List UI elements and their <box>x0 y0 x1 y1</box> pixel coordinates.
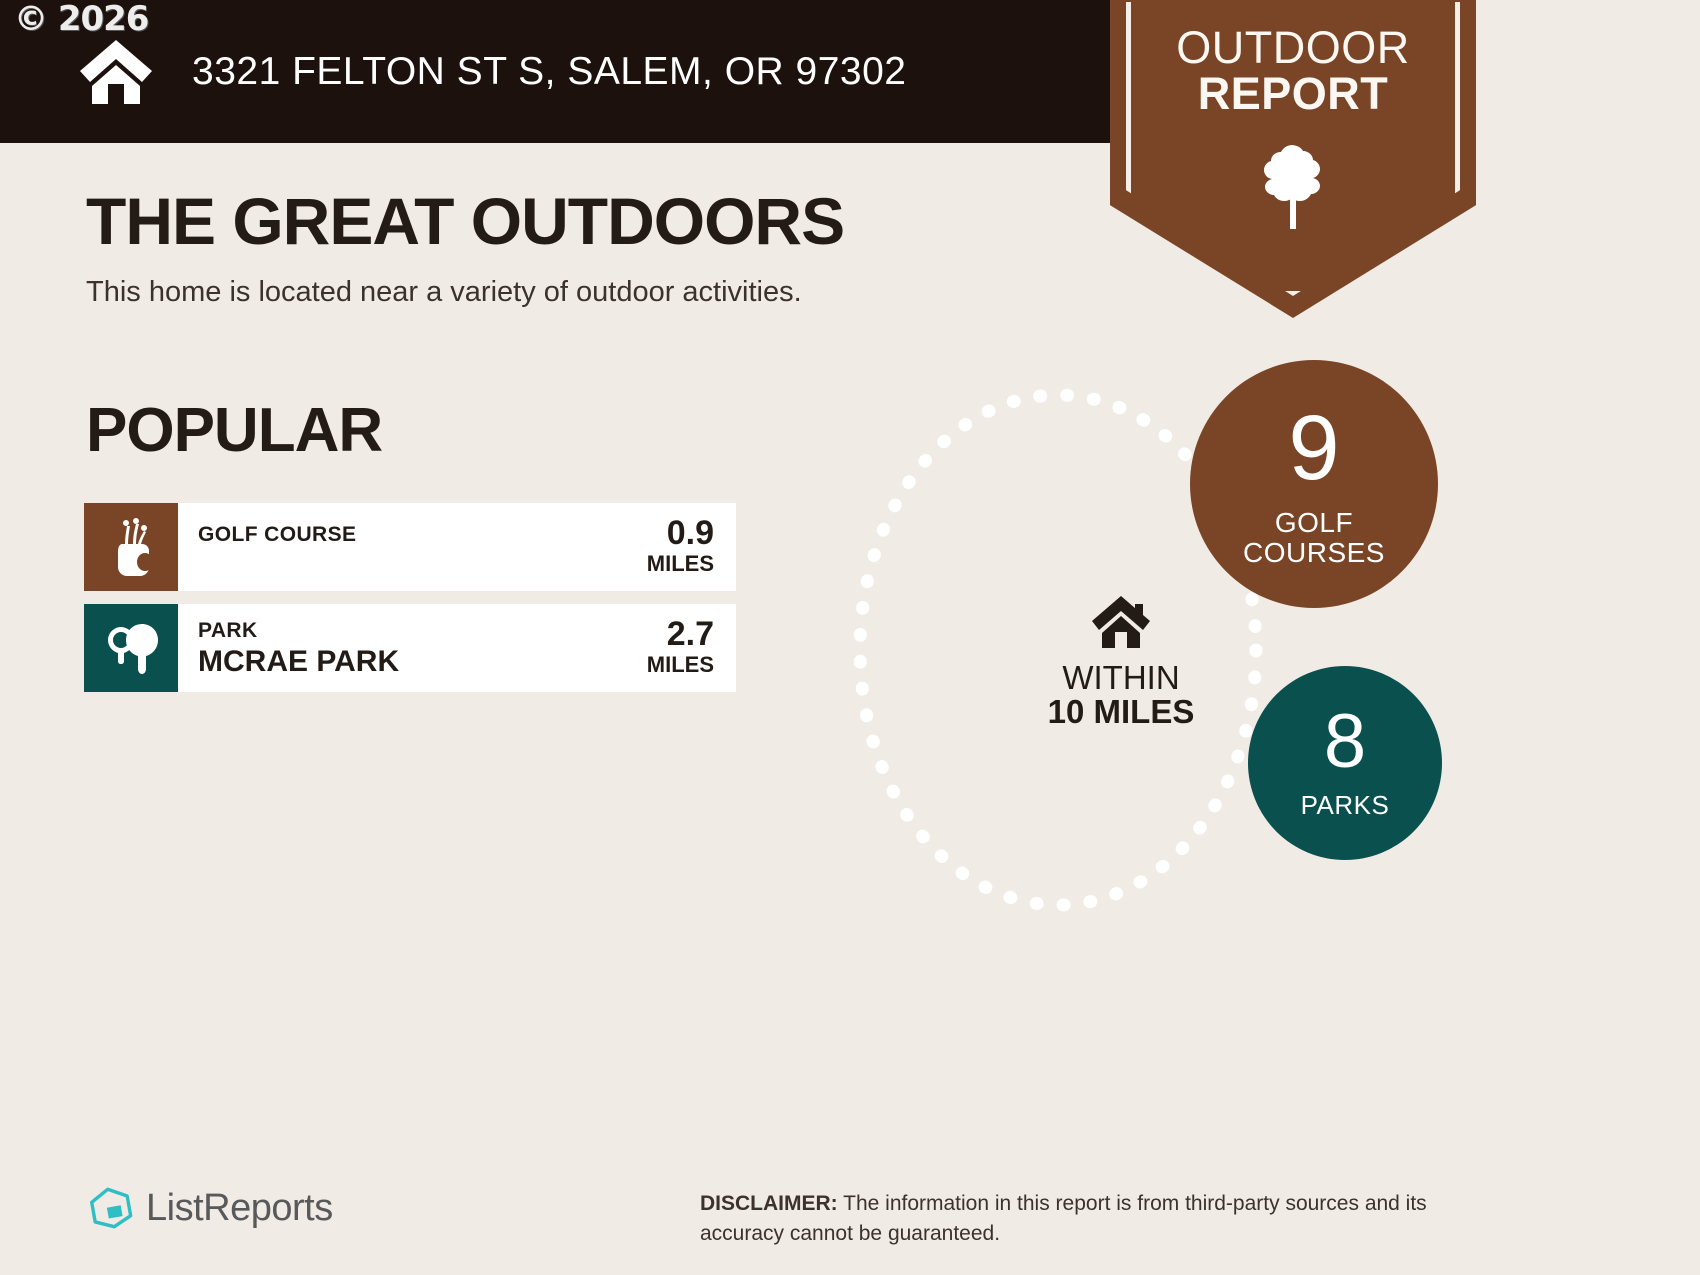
golf-courses-label-line1: GOLF <box>1190 508 1438 537</box>
distance-value: 0.9 <box>667 516 714 550</box>
stat-circle-parks: 8 PARKS <box>1248 666 1442 860</box>
list-item-distance: 2.7 MILES <box>584 604 736 692</box>
listreports-logo[interactable]: ListReports <box>88 1185 333 1231</box>
distance-unit: MILES <box>647 550 714 579</box>
badge-title-line1: OUTDOOR <box>1110 24 1476 71</box>
list-item-icon-box <box>84 503 178 591</box>
distance-unit: MILES <box>647 651 714 680</box>
property-address: 3321 FELTON ST S, SALEM, OR 97302 <box>192 50 907 94</box>
list-item-text: PARK MCRAE PARK <box>178 604 584 692</box>
list-item-name: MCRAE PARK <box>198 645 399 678</box>
stat-circle-golf-courses: 9 GOLF COURSES <box>1190 360 1438 608</box>
page-title: THE GREAT OUTDOORS <box>86 188 844 254</box>
header-bar: 3321 FELTON ST S, SALEM, OR 97302 <box>0 0 1232 143</box>
within-label-line1: WITHIN <box>1010 660 1232 696</box>
list-item-category: GOLF COURSE <box>198 522 356 548</box>
outdoor-report-badge: OUTDOOR REPORT <box>1110 0 1476 318</box>
copyright-watermark: © 2026 <box>14 2 148 36</box>
home-icon <box>78 38 154 106</box>
distance-value: 2.7 <box>667 617 714 651</box>
disclaimer: DISCLAIMER: The information in this repo… <box>700 1189 1500 1249</box>
popular-list: GOLF COURSE 0.9 MILES PARK MCRAE PARK <box>84 503 736 705</box>
parks-count: 8 <box>1248 704 1442 780</box>
listreports-house-icon <box>88 1185 134 1231</box>
list-item-icon-box <box>84 604 178 692</box>
page-subtitle: This home is located near a variety of o… <box>86 276 802 309</box>
section-heading-popular: POPULAR <box>86 400 382 462</box>
badge-title-line2: REPORT <box>1110 70 1476 117</box>
tree-icon <box>1255 141 1331 231</box>
golf-courses-label-line2: COURSES <box>1190 538 1438 567</box>
golf-courses-count: 9 <box>1190 402 1438 494</box>
home-icon <box>1090 594 1152 650</box>
list-item[interactable]: PARK MCRAE PARK 2.7 MILES <box>84 604 736 692</box>
golf-bag-icon <box>105 516 157 578</box>
list-item-category: PARK <box>198 618 399 644</box>
park-trees-icon <box>102 622 160 674</box>
listreports-wordmark: ListReports <box>146 1187 333 1230</box>
parks-label: PARKS <box>1248 792 1442 819</box>
list-item-name <box>198 549 356 572</box>
list-item-distance: 0.9 MILES <box>584 503 736 591</box>
disclaimer-label: DISCLAIMER: <box>700 1192 838 1215</box>
list-item-text: GOLF COURSE <box>178 503 584 591</box>
list-item[interactable]: GOLF COURSE 0.9 MILES <box>84 503 736 591</box>
within-label-line2: 10 MILES <box>1010 694 1232 730</box>
